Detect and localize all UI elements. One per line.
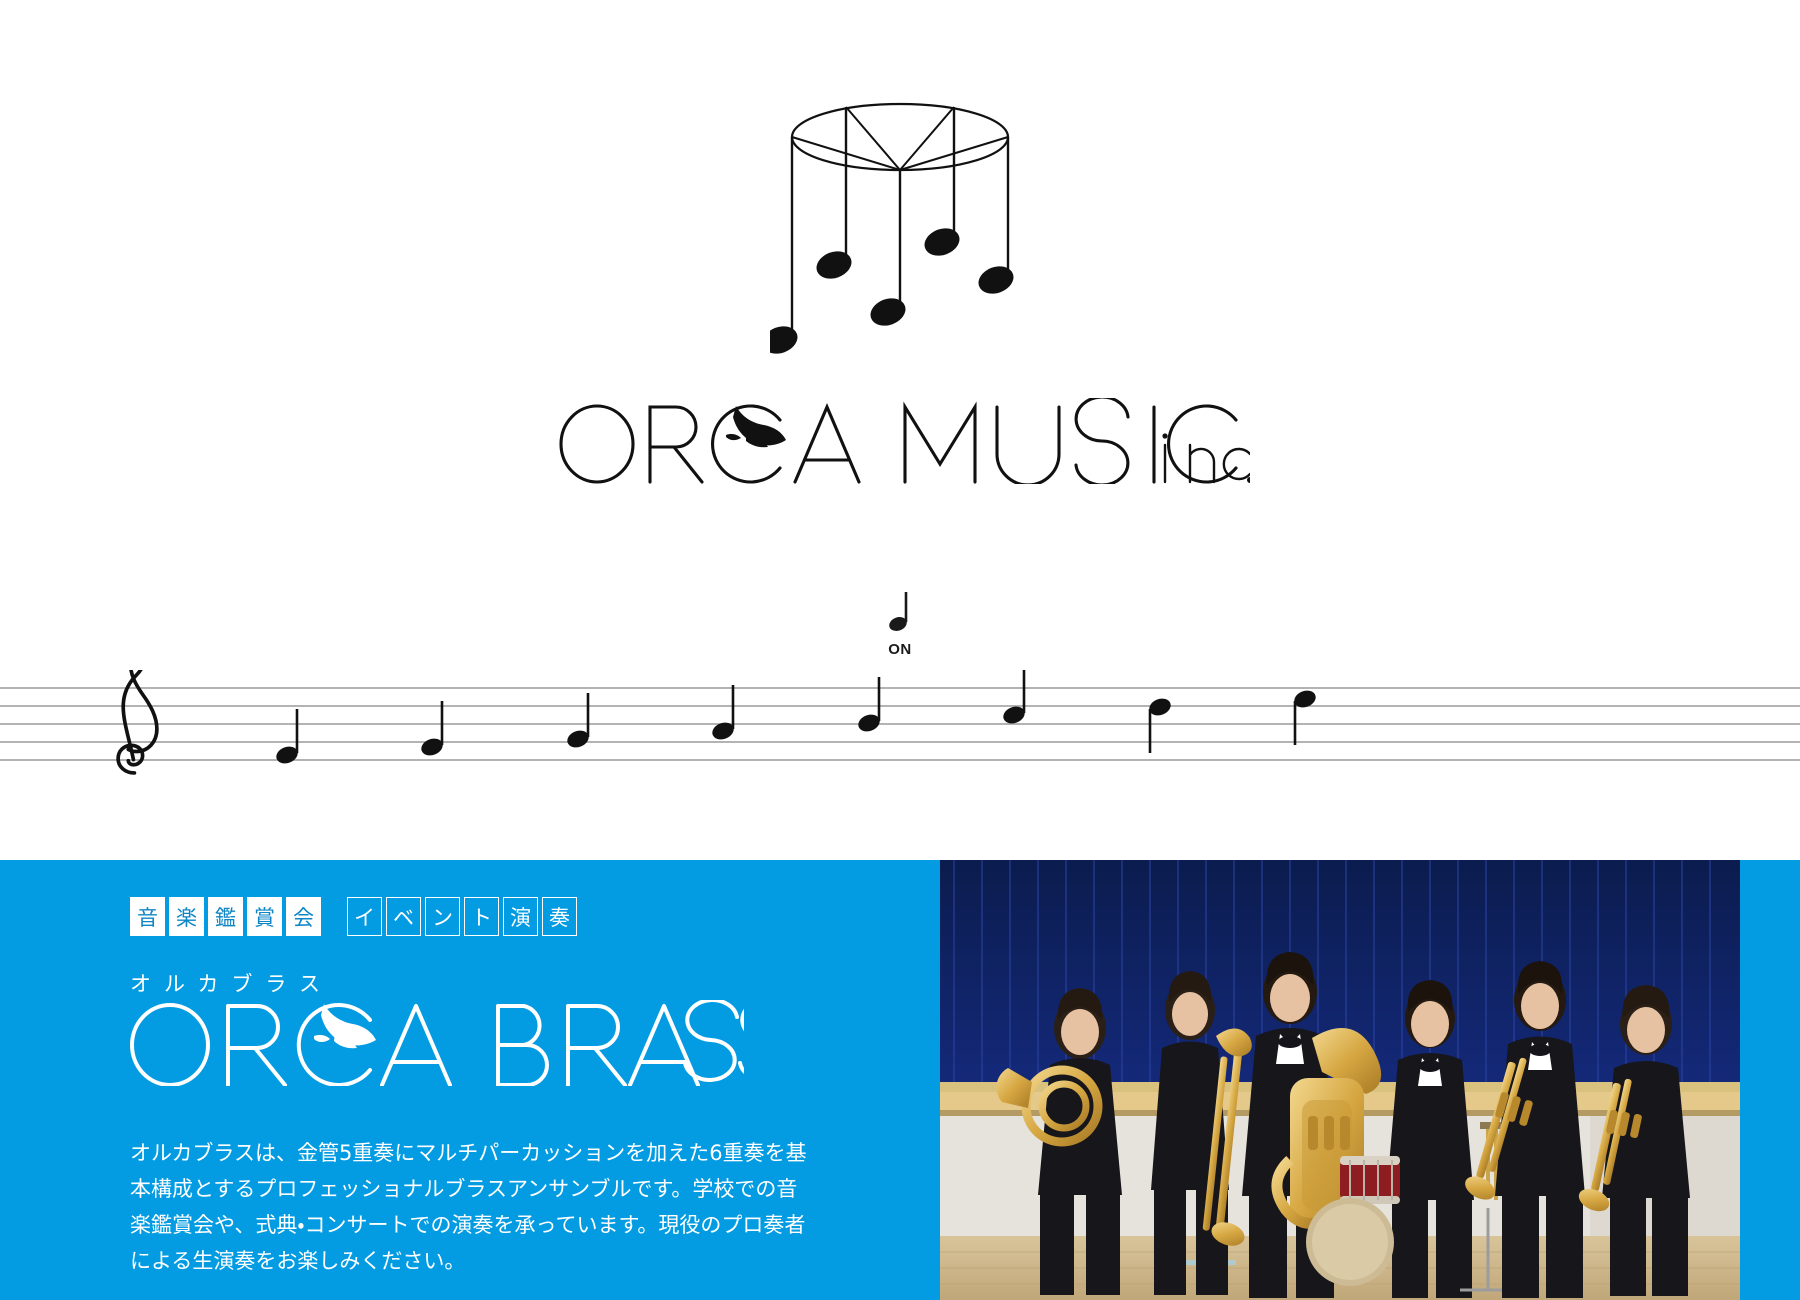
hero-blue-panel: 音楽鑑賞会イベント演奏 オルカブラス [0,860,940,1300]
staff-note-4[interactable] [710,685,736,742]
music-staff [0,670,1800,800]
orca-whale-icon [314,1004,376,1048]
quarter-note-icon [883,588,917,634]
staff-navigation: オルカブラス特別編成公演実績演奏曲目事業内容会社案内Q&Aお問い合わせ [0,670,1800,850]
staff-note-6[interactable] [1001,670,1027,726]
logo-block [0,0,1800,560]
wind-chime-music-notes-logo [770,95,1030,390]
badge-cell: 奏 [542,897,577,936]
staff-note-2[interactable] [419,701,445,758]
hero-kana-title: オルカブラス [130,968,333,998]
badge-group-1: 音楽鑑賞会 [130,897,321,936]
page-root: ON オルカブラス特別編成公演実績演奏曲目事業内容会社案内Q&Aお問い合わせ 音… [0,0,1800,1300]
logo-wordmark[interactable] [550,398,1250,488]
hero-title [124,1000,744,1098]
badge-cell: 楽 [169,897,204,936]
sound-toggle-label: ON [860,641,940,658]
orca-whale-icon [726,406,786,447]
badge-cell: 演 [503,897,538,936]
badge-cell: 賞 [247,897,282,936]
treble-clef-icon [118,670,157,773]
staff-note-8[interactable] [1292,688,1318,745]
sound-toggle-button[interactable]: ON [860,588,940,658]
badge-cell: ベ [386,897,421,936]
badge-cell: イ [347,897,382,936]
photo-right-fill [1740,860,1800,1300]
badge-cell: 鑑 [208,897,243,936]
badge-group-2: イベント演奏 [347,897,577,936]
badge-cell: ト [464,897,499,936]
staff-note-3[interactable] [565,693,591,750]
badge-cell: ン [425,897,460,936]
badge-cell: 音 [130,897,165,936]
staff-note-1[interactable] [274,709,300,766]
hero-badge-row: 音楽鑑賞会イベント演奏 [130,897,577,936]
hero-body-text: オルカブラスは、金管5重奏にマルチパーカッションを加えた6重奏を基本構成とするプ… [130,1135,810,1279]
badge-cell: 会 [286,897,321,936]
brass-ensemble-photo [940,860,1740,1300]
